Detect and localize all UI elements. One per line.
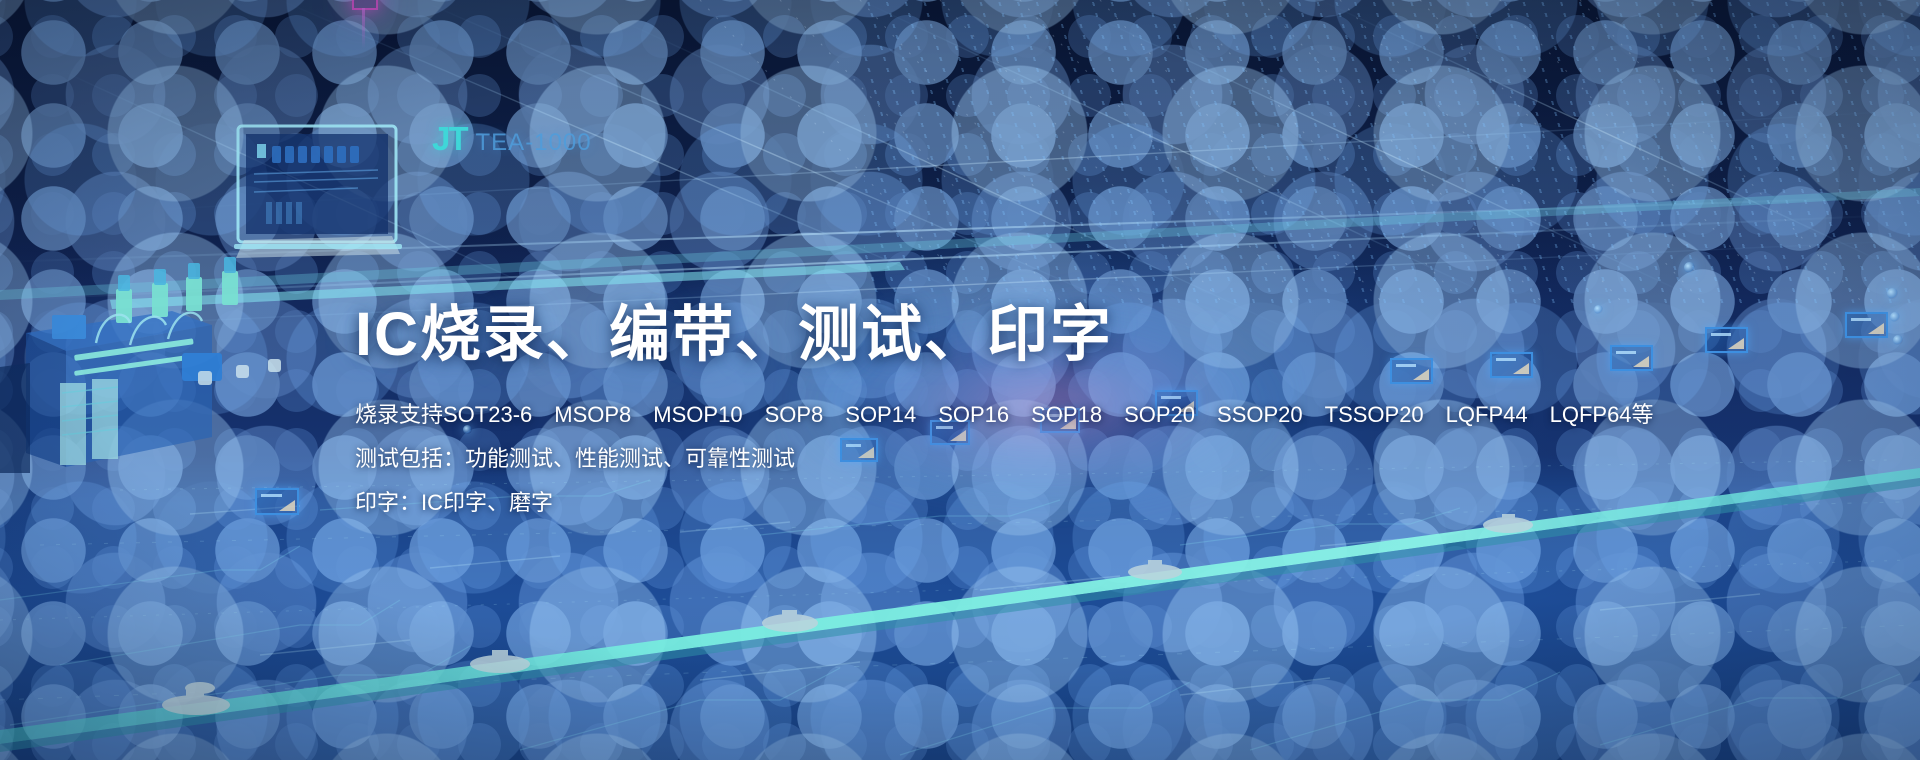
package-tag: SOP8 — [765, 404, 824, 426]
list-item: 印字：IC印字、磨字 — [355, 492, 1605, 514]
package-tag: SSOP20 — [1217, 404, 1303, 426]
package-tag: MSOP10 — [653, 404, 742, 426]
glow-orb-icon — [1684, 262, 1695, 273]
ceiling-gradient — [0, 0, 1920, 300]
mini-screen-panel-icon — [255, 488, 299, 515]
banner-content: IC烧录、编带、测试、印字 烧录支持SOT23-6MSOP8MSOP10SOP8… — [355, 300, 1605, 536]
package-list-0: MSOP8MSOP10SOP8SOP14SOP16SOP18SOP20SSOP2… — [554, 402, 1653, 427]
page-title: IC烧录、编带、测试、印字 — [355, 300, 1605, 368]
mini-screen-panel-icon — [1705, 327, 1748, 353]
list-item: 烧录支持SOT23-6MSOP8MSOP10SOP8SOP14SOP16SOP1… — [355, 404, 1605, 426]
list-item: 测试包括：功能测试、性能测试、可靠性测试 — [355, 448, 1605, 470]
logo-model-text: TEA-1000 — [476, 129, 592, 157]
service-label: 烧录支持SOT23-6 — [355, 402, 532, 427]
hero-banner: JT TEA-1000 IC烧录、编带、测试、印字 烧录支持SOT23-6MSO… — [0, 0, 1920, 760]
monitor-display-illustration — [228, 118, 408, 263]
logo-mark-text: JT — [432, 120, 467, 158]
glow-orb-icon — [1887, 288, 1898, 299]
package-tag: LQFP44 — [1446, 404, 1528, 426]
package-tag: TSSOP20 — [1325, 404, 1424, 426]
mini-screen-panel-icon — [1845, 312, 1888, 338]
glow-orb-icon — [1893, 335, 1903, 345]
glow-orb-icon — [1890, 312, 1900, 322]
service-list: 烧录支持SOT23-6MSOP8MSOP10SOP8SOP14SOP16SOP1… — [355, 404, 1605, 514]
package-tag: SOP18 — [1031, 404, 1102, 426]
mini-screen-panel-icon — [1610, 345, 1653, 371]
package-tag: LQFP64等 — [1550, 404, 1654, 426]
package-tag: SOP14 — [845, 404, 916, 426]
package-tag: MSOP8 — [554, 404, 631, 426]
industrial-machine-illustration — [0, 215, 330, 475]
package-tag: SOP20 — [1124, 404, 1195, 426]
service-label: 测试包括：功能测试、性能测试、可靠性测试 — [355, 446, 795, 471]
equipment-logo: JT TEA-1000 — [432, 120, 592, 158]
service-label: 印字：IC印字、磨字 — [355, 490, 553, 515]
dotted-rain-pattern — [864, 0, 1920, 310]
indicator-stem — [362, 8, 365, 48]
package-tag: SOP16 — [938, 404, 1009, 426]
magenta-indicator-icon — [352, 0, 378, 10]
